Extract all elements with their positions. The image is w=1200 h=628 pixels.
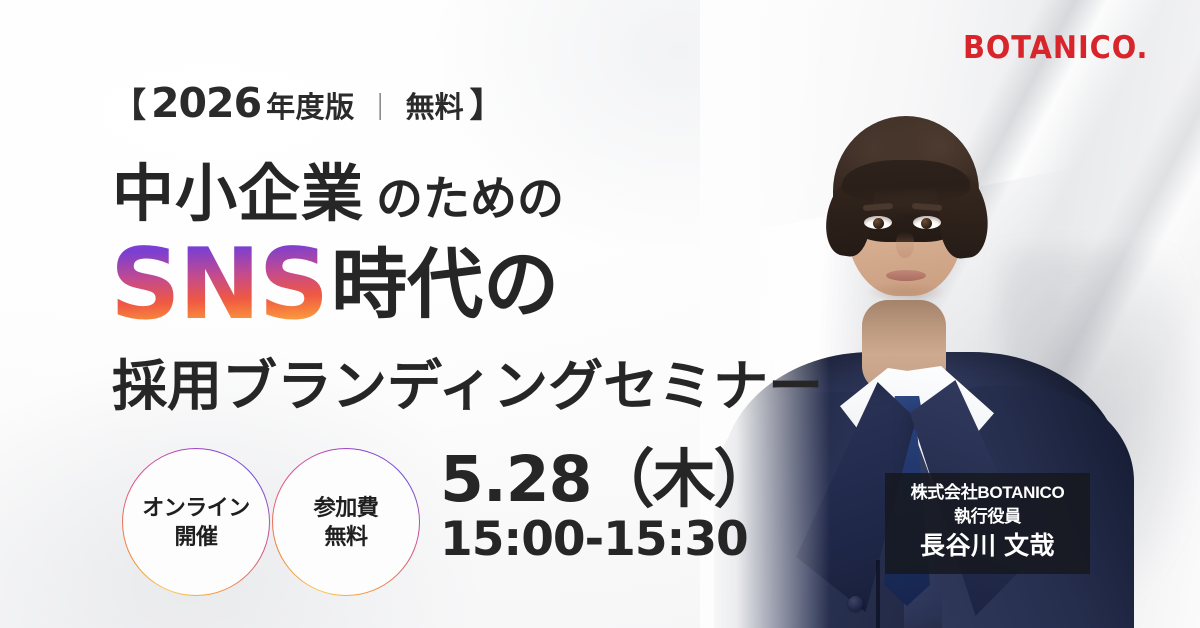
headline-sns-gradient: SNS — [108, 235, 329, 337]
badge-online-line1: オンライン — [142, 493, 250, 522]
badge-fee-line1: 参加費 — [314, 493, 379, 522]
badge-online: オンライン 開催 — [122, 448, 270, 596]
badge-group: オンライン 開催 参加費 無料 — [118, 444, 418, 599]
seminar-banner: BOTANICO. 【 2026 年度版 ｜ 無料 】 中小企業 のための SN… — [0, 0, 1200, 628]
headline-line-3: SNS 時代の — [108, 235, 772, 337]
year-suffix: 年度版 — [266, 84, 355, 126]
year-value: 2026 — [151, 79, 261, 127]
suit-button — [848, 596, 863, 611]
headline-era: 時代の — [331, 246, 559, 326]
speaker-company: 株式会社BOTANICO — [895, 482, 1080, 505]
event-date-line: 5.28（木） — [440, 448, 774, 512]
badge-fee: 参加費 無料 — [272, 448, 420, 596]
chin-shading — [866, 282, 946, 302]
suit-placket — [876, 560, 880, 628]
details-row: オンライン 開催 参加費 無料 5.28（木） 15:00-15:30 — [118, 444, 774, 599]
event-day-of-week: （木） — [591, 443, 774, 516]
speaker-name: 長谷川 文哉 — [895, 530, 1080, 563]
hair-fringe — [842, 160, 970, 204]
event-time: 15:00-15:30 — [440, 514, 774, 566]
headline-line-2: 中小企業 のための — [112, 143, 772, 233]
event-date: 5.28 — [440, 443, 591, 516]
headline-line-4: 採用ブランディングセミナー — [112, 341, 772, 421]
badge-fee-line2: 無料 — [324, 522, 367, 551]
badge-online-line2: 開催 — [174, 522, 217, 551]
speaker-title: 執行役員 — [895, 505, 1080, 529]
botanico-logo: BOTANICO. — [963, 30, 1148, 66]
schedule-block: 5.28（木） 15:00-15:30 — [440, 444, 774, 566]
headline-target-audience: 中小企業 — [112, 143, 364, 233]
headline-block: 【 2026 年度版 ｜ 無料 】 中小企業 のための SNS 時代の 採用ブラ… — [112, 78, 772, 421]
eyebrow-separator: ｜ — [367, 86, 394, 125]
eyebrow-line: 【 2026 年度版 ｜ 無料 】 — [112, 78, 772, 127]
pupil-left — [873, 218, 884, 229]
bracket-left: 【 — [112, 78, 146, 127]
nose — [896, 232, 914, 258]
pupil-right — [921, 218, 932, 229]
headline-connector: のための — [376, 160, 564, 229]
neck-shadow — [862, 300, 946, 354]
speaker-caption: 株式会社BOTANICO 執行役員 長谷川 文哉 — [885, 473, 1090, 574]
bracket-right: 】 — [470, 78, 504, 127]
mouth — [886, 270, 926, 281]
free-label: 無料 — [406, 84, 464, 126]
